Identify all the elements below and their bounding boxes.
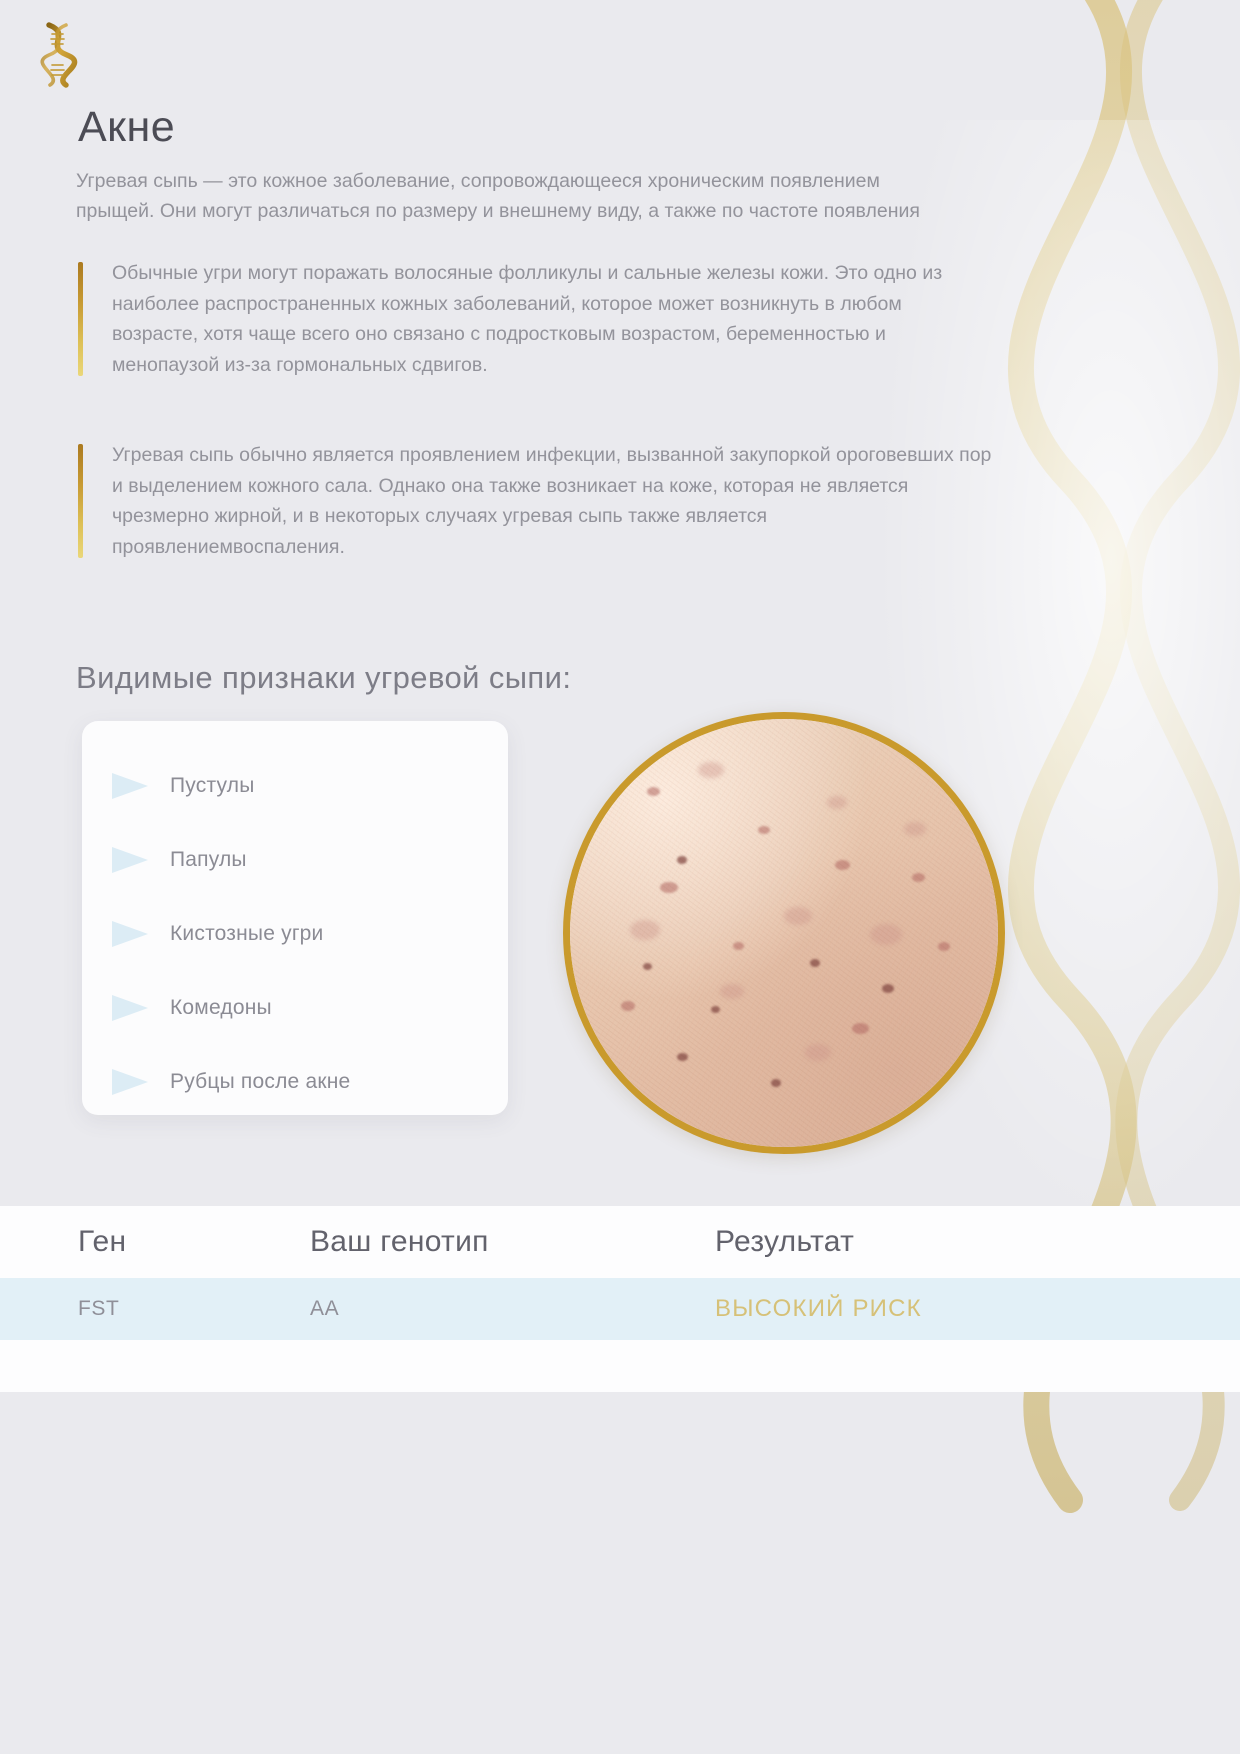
sign-label: Папулы (170, 848, 247, 872)
sign-label: Пустулы (170, 774, 255, 798)
skin-grain (570, 719, 998, 1147)
column-header-genotype: Ваш генотип (310, 1225, 715, 1259)
highlight-block-2: Угревая сыпь обычно является проявлением… (78, 440, 992, 562)
list-item: Рубцы после акне (82, 1045, 508, 1119)
acne-skin-closeup-photo (563, 712, 1005, 1154)
page-title: Акне (78, 103, 175, 152)
gold-accent-bar (78, 262, 83, 376)
column-header-gene: Ген (0, 1225, 310, 1259)
cell-genotype: AA (310, 1297, 715, 1321)
highlight-text-1: Обычные угри могут поражать волосяные фо… (112, 262, 942, 376)
list-item: Кистозные угри (82, 897, 508, 971)
gold-accent-bar (78, 444, 83, 558)
triangle-right-icon (110, 1067, 150, 1097)
highlight-text-2: Угревая сыпь обычно является проявлением… (112, 444, 991, 558)
triangle-right-icon (110, 993, 150, 1023)
triangle-right-icon (110, 919, 150, 949)
cell-gene: FST (0, 1297, 310, 1321)
intro-paragraph: Угревая сыпь — это кожное заболевание, с… (76, 166, 956, 226)
sign-label: Кистозные угри (170, 922, 324, 946)
table-header-row: Ген Ваш генотип Результат (0, 1206, 1240, 1278)
sign-label: Комедоны (170, 996, 272, 1020)
triangle-right-icon (110, 845, 150, 875)
signs-list: Пустулы Папулы Кистозные угри (82, 721, 508, 1119)
highlight-block-1: Обычные угри могут поражать волосяные фо… (78, 258, 992, 380)
list-item: Папулы (82, 823, 508, 897)
results-table: Ген Ваш генотип Результат FST AA ВЫСОКИЙ… (0, 1206, 1240, 1392)
list-item: Комедоны (82, 971, 508, 1045)
report-page: Акне Угревая сыпь — это кожное заболеван… (0, 0, 1240, 1754)
visible-signs-card: Пустулы Папулы Кистозные угри (82, 721, 508, 1115)
triangle-right-icon (110, 771, 150, 801)
table-bottom-spacer (0, 1340, 1240, 1392)
signs-section-heading: Видимые признаки угревой сыпи: (76, 660, 571, 696)
column-header-result: Результат (715, 1225, 1240, 1259)
dna-helix-icon (36, 22, 82, 88)
sign-label: Рубцы после акне (170, 1070, 350, 1094)
list-item: Пустулы (82, 749, 508, 823)
table-row: FST AA ВЫСОКИЙ РИСК (0, 1278, 1240, 1340)
status-badge: ВЫСОКИЙ РИСК (715, 1295, 1240, 1323)
